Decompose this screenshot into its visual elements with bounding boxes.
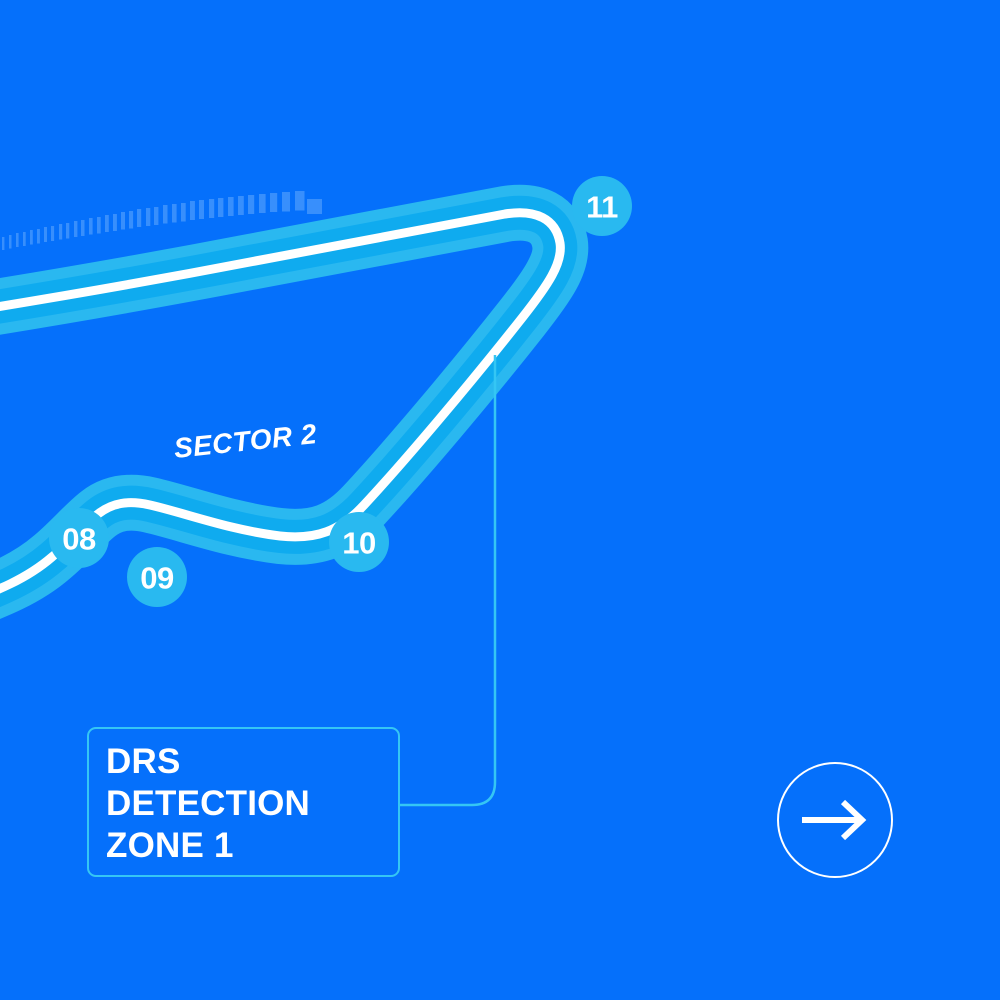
drs-detection-zone-callout[interactable]: DRS DETECTION ZONE 1	[87, 727, 400, 877]
next-button[interactable]	[777, 762, 893, 878]
turn-marker-10[interactable]: 10	[329, 512, 389, 572]
turn-marker-label: 10	[342, 526, 375, 561]
arrow-right-icon	[798, 798, 872, 842]
turn-marker-11[interactable]: 11	[572, 176, 632, 236]
drs-callout-text: DRS DETECTION ZONE 1	[106, 741, 310, 867]
turn-marker-label: 11	[586, 190, 618, 225]
turn-marker-08[interactable]: 08	[49, 508, 109, 568]
turn-marker-label: 09	[140, 561, 174, 596]
circuit-map-slide: SECTOR 2 08 09 10 11 DRS DETECTION ZONE …	[0, 0, 1000, 1000]
turn-marker-09[interactable]: 09	[127, 547, 187, 607]
turn-marker-label: 08	[62, 522, 96, 557]
sector-label: SECTOR 2	[172, 418, 318, 464]
